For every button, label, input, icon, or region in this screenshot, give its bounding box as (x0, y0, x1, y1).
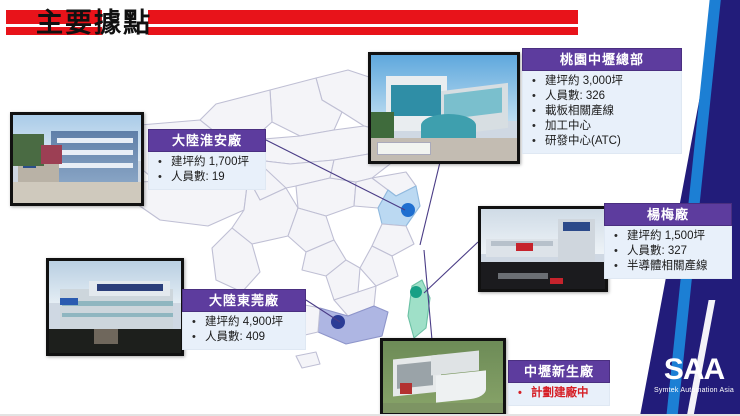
callout-detail-item: 計劃建廠中 (515, 386, 605, 401)
callout-detail-item: 建坪約 1,500坪 (611, 229, 727, 244)
title-bar: 主要據點 (0, 0, 740, 46)
title-red-bar-right-thin (148, 27, 578, 35)
map-marker-huaian (401, 203, 415, 217)
saa-logo: SAA Symtek Automation Asia (648, 355, 740, 407)
callout-detail-item: 半導體相關產線 (611, 259, 727, 274)
photo-yangmei (478, 206, 608, 292)
callout-detail-item: 建坪約 3,000坪 (529, 74, 677, 89)
callout-new-plant: 中壢新生廠 計劃建廠中 (508, 360, 610, 406)
map-marker-dongguan (331, 315, 345, 329)
photo-headquarters (368, 52, 520, 164)
callout-detail-item: 加工中心 (529, 119, 677, 134)
page-title: 主要據點 (36, 2, 152, 44)
map-marker-taiwan (410, 286, 422, 298)
callout-new-plant-title: 中壢新生廠 (508, 360, 610, 383)
callout-dongguan-body: 建坪約 4,900坪人員數: 409 (182, 312, 306, 350)
callout-detail-item: 人員數: 327 (611, 244, 727, 259)
saa-logo-subtitle: Symtek Automation Asia (648, 385, 740, 397)
callout-new-plant-body: 計劃建廠中 (508, 383, 610, 406)
title-red-bar-right-thick (148, 10, 578, 24)
callout-yangmei: 楊梅廠 建坪約 1,500坪人員數: 327半導體相關產線 (604, 203, 732, 279)
saa-logo-mark: SAA (648, 355, 740, 385)
callout-headquarters-body: 建坪約 3,000坪人員數: 326載板相關產線加工中心研發中心(ATC) (522, 71, 682, 154)
callout-yangmei-body: 建坪約 1,500坪人員數: 327半導體相關產線 (604, 226, 732, 279)
callout-huaian-body: 建坪約 1,700坪人員數: 19 (148, 152, 266, 190)
callout-detail-item: 載板相關產線 (529, 104, 677, 119)
slide-root: 主要據點 (0, 0, 740, 416)
photo-huaian (10, 112, 144, 206)
callout-dongguan: 大陸東莞廠 建坪約 4,900坪人員數: 409 (182, 289, 306, 350)
callout-detail-item: 人員數: 19 (155, 170, 261, 185)
callout-dongguan-title: 大陸東莞廠 (182, 289, 306, 312)
callout-detail-item: 建坪約 4,900坪 (189, 315, 301, 330)
photo-new-plant-rendering (380, 338, 506, 416)
callout-headquarters-title: 桃園中壢總部 (522, 48, 682, 71)
photo-dongguan (46, 258, 184, 356)
callout-detail-item: 建坪約 1,700坪 (155, 155, 261, 170)
callout-headquarters: 桃園中壢總部 建坪約 3,000坪人員數: 326載板相關產線加工中心研發中心(… (522, 48, 682, 154)
callout-detail-item: 人員數: 326 (529, 89, 677, 104)
callout-detail-item: 人員數: 409 (189, 330, 301, 345)
callout-yangmei-title: 楊梅廠 (604, 203, 732, 226)
callout-huaian-title: 大陸淮安廠 (148, 129, 266, 152)
callout-huaian: 大陸淮安廠 建坪約 1,700坪人員數: 19 (148, 129, 266, 190)
callout-detail-item: 研發中心(ATC) (529, 134, 677, 149)
